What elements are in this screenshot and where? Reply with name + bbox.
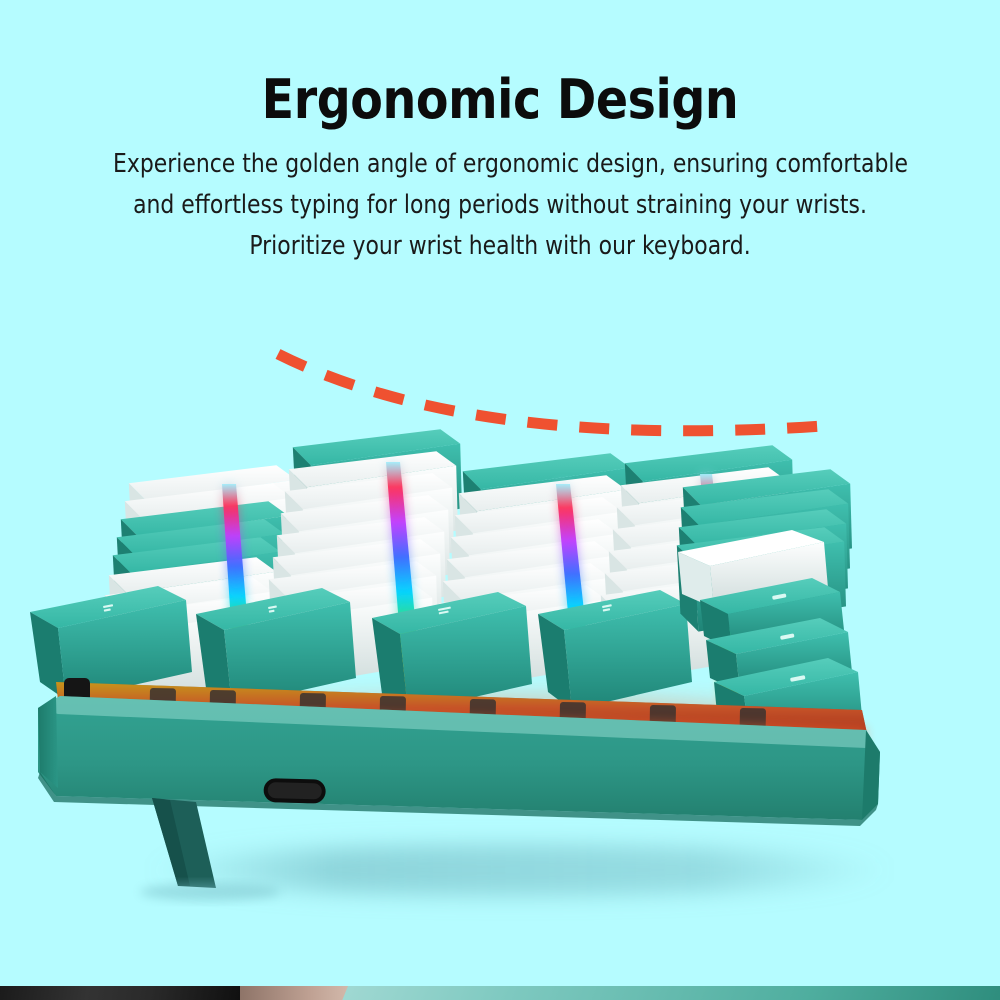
- subtitle-line-3: Prioritize your wrist health with our ke…: [113, 226, 887, 267]
- key-column-5: [677, 469, 862, 738]
- next-image-sliver: [0, 986, 1000, 1000]
- page-subtitle: Experience the golden angle of ergonomic…: [113, 144, 887, 267]
- page-title: Ergonomic Design: [60, 68, 940, 131]
- usb-c-port: [263, 778, 326, 804]
- product-feature-slide: Ergonomic Design Experience the golden a…: [0, 0, 1000, 1000]
- subtitle-line-1: Experience the golden angle of ergonomic…: [113, 144, 887, 185]
- sliver-dark-region: [0, 986, 250, 1000]
- sliver-teal-region: [342, 986, 1000, 1000]
- subtitle-line-2: and effortless typing for long periods w…: [113, 185, 887, 226]
- foot-shadow: [140, 883, 280, 901]
- keyboard-product-image: [0, 400, 1000, 930]
